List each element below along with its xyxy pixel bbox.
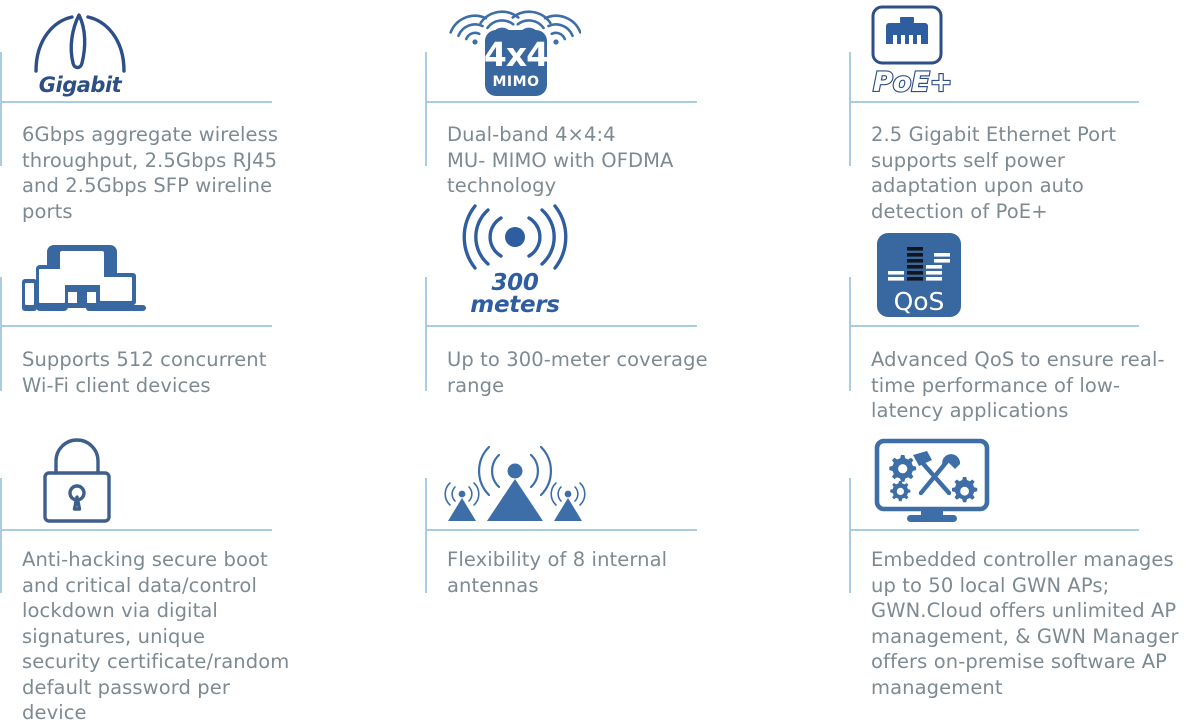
accent-horizontal-rule — [425, 101, 697, 103]
multi-device-icon — [20, 233, 160, 317]
mimo-4x4-label: 4x4 — [484, 38, 548, 71]
accent-horizontal-rule — [0, 101, 272, 103]
feature-grid: Gigabit 6Gbps aggregate wireless through… — [0, 0, 1200, 676]
monitor-tools-gears-icon — [871, 433, 1011, 525]
accent-horizontal-rule — [0, 325, 272, 327]
accent-vertical-rule — [425, 52, 427, 166]
accent-horizontal-rule — [849, 325, 1139, 327]
poe-plus-rj45-icon: PoE+ — [871, 2, 1021, 96]
feature-description: Anti-hacking secure boot and critical da… — [22, 547, 290, 726]
accent-vertical-rule — [0, 277, 2, 391]
feature-card-coverage-range: 300 meters Up to 300-meter coverage rang… — [425, 215, 725, 425]
accent-vertical-rule — [0, 478, 2, 593]
coverage-value: 300 — [470, 272, 559, 295]
feature-description: Embedded controller manages up to 50 loc… — [871, 547, 1197, 700]
accent-horizontal-rule — [849, 529, 1139, 531]
gigabit-logo-icon: Gigabit — [24, 4, 154, 96]
qos-label: QoS — [894, 289, 945, 314]
accent-horizontal-rule — [425, 325, 697, 327]
4x4-mimo-icon: 4x4 MIMO — [449, 2, 589, 96]
feature-card-mimo-ofdma: 4x4 MIMO Dual-band 4×4:4 MU- MIMO with O… — [425, 0, 725, 215]
feature-description: 2.5 Gigabit Ethernet Port supports self … — [871, 122, 1171, 224]
feature-description: 6Gbps aggregate wireless throughput, 2.5… — [22, 122, 284, 224]
gigabit-wordmark: Gigabit — [39, 75, 121, 96]
feature-card-internal-antennas: Flexibility of 8 internal antennas — [425, 425, 725, 676]
accent-vertical-rule — [849, 478, 851, 593]
feature-card-poe-plus: PoE+ 2.5 Gigabit Ethernet Port supports … — [849, 0, 1189, 215]
feature-description: Up to 300-meter coverage range — [447, 347, 727, 398]
feature-description: Supports 512 concurrent Wi-Fi client dev… — [22, 347, 290, 398]
feature-card-gigabit-throughput: Gigabit 6Gbps aggregate wireless through… — [0, 0, 300, 215]
accent-vertical-rule — [0, 52, 2, 166]
qos-equalizer-icon: QoS — [877, 229, 997, 317]
poe-plus-wordmark: PoE+ — [873, 69, 952, 96]
accent-horizontal-rule — [0, 529, 272, 531]
accent-horizontal-rule — [425, 529, 697, 531]
feature-description: Dual-band 4×4:4 MU- MIMO with OFDMA tech… — [447, 122, 715, 199]
accent-vertical-rule — [849, 52, 851, 166]
feature-card-embedded-controller: Embedded controller manages up to 50 loc… — [849, 425, 1200, 676]
feature-card-concurrent-clients: Supports 512 concurrent Wi-Fi client dev… — [0, 215, 300, 425]
feature-description: Flexibility of 8 internal antennas — [447, 547, 715, 598]
300-meters-signal-icon: 300 meters — [457, 209, 597, 317]
antenna-towers-icon — [439, 435, 599, 525]
mimo-sublabel: MIMO — [493, 75, 540, 89]
feature-card-secure-boot: Anti-hacking secure boot and critical da… — [0, 425, 300, 676]
accent-vertical-rule — [425, 478, 427, 593]
accent-vertical-rule — [425, 277, 427, 391]
coverage-wordmark: 300 meters — [470, 272, 559, 317]
coverage-unit: meters — [470, 294, 559, 317]
padlock-icon — [36, 433, 146, 525]
accent-horizontal-rule — [849, 101, 1139, 103]
feature-description: Advanced QoS to ensure real-time perform… — [871, 347, 1171, 424]
accent-vertical-rule — [849, 277, 851, 391]
feature-card-advanced-qos: QoS Advanced QoS to ensure real-time per… — [849, 215, 1189, 425]
